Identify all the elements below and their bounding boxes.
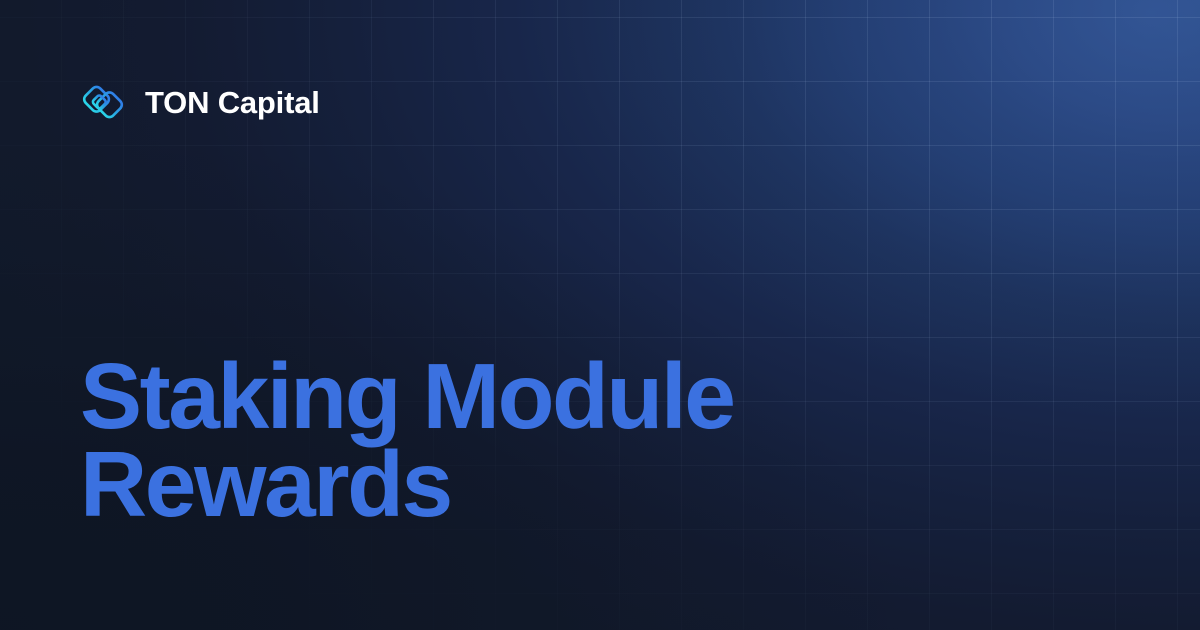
ton-capital-diamond-logo-icon [80,79,126,125]
brand-lockup: TON Capital [80,79,320,125]
brand-name: TON Capital [145,87,320,118]
page-title: Staking Module Rewards [80,352,940,529]
page-title-line-1: Staking Module [80,352,940,440]
og-card: TON Capital Staking Module Rewards [0,0,1200,630]
page-title-line-2: Rewards [80,440,940,528]
